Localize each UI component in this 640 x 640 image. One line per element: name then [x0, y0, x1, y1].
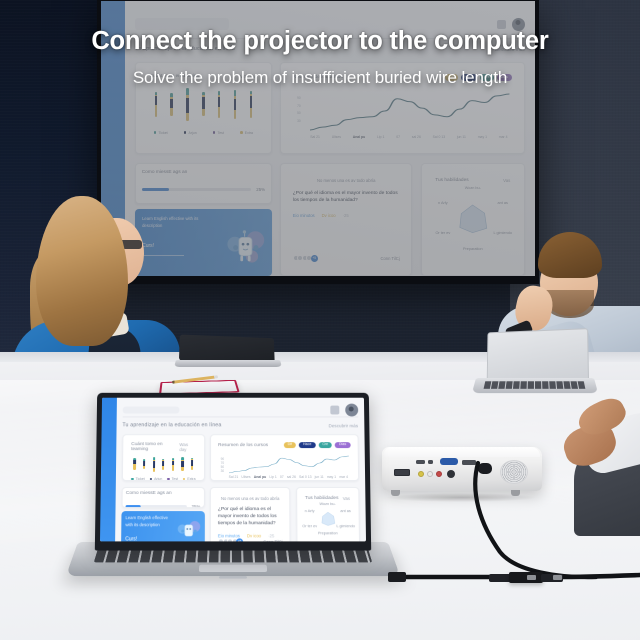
legend-item: Extra [183, 477, 196, 481]
avatar-overflow-count: +5 [311, 255, 318, 262]
progress-percent: 25% [191, 504, 200, 508]
quiz-footer-label: Conn TilCj [380, 256, 399, 261]
legend-item: Test [213, 131, 224, 135]
legend-item: Arjun [184, 131, 197, 135]
line-chart [229, 455, 350, 474]
port-usb-b[interactable] [428, 460, 433, 464]
bar-chart [131, 454, 196, 473]
radar-axis-label: n Arfy [305, 509, 315, 513]
person-foreground [556, 382, 640, 522]
radar-card: Tus habilidades Vas Wozn bu-ant asL gimi… [296, 487, 360, 541]
progress-bar [126, 505, 187, 508]
radar-axis-label: ant as [340, 509, 350, 513]
quiz-question: ¿Por qué el idioma es el mayor invento d… [218, 506, 283, 528]
quiz-top-label: No menos una es av todo abría [218, 496, 283, 501]
subheadline-text: Solve the problem of insufficient buried… [0, 68, 640, 88]
coupler-contact-a [527, 575, 536, 580]
radar-axis-label: Preparation [318, 531, 338, 535]
hdmi-coupler[interactable] [509, 572, 543, 583]
robot-mascot-icon [224, 221, 265, 273]
bars-legend: TicketArjunTestExtra [131, 477, 196, 481]
coupler-contact-b [553, 575, 562, 580]
progress-bar [142, 188, 252, 191]
quiz-meta: Eio minutosDv icoo·25 [293, 213, 400, 218]
y-tick: 30 [221, 469, 225, 473]
x-tick: 07 [396, 135, 400, 139]
quiz-footer-label: Conn TilCj [263, 539, 282, 541]
laptop-trackpad[interactable] [199, 565, 267, 572]
line-x-axis: Sal 21UlisesAnal puLip 107sal 26Sal 0 13… [218, 475, 351, 479]
radar-axis-label: Wozn bu- [319, 502, 335, 506]
x-tick: may 1 [478, 135, 487, 139]
x-tick: 07 [280, 475, 284, 479]
legend-item: Test [167, 477, 178, 481]
radar-axis-label: Wozn bu- [465, 186, 481, 190]
bar-column [189, 454, 194, 473]
x-tick: Anal pu [353, 135, 365, 139]
radar-card-link[interactable]: Vas [503, 178, 510, 183]
robot-mascot-icon [175, 517, 200, 541]
bar-stick [191, 458, 193, 470]
bar-column [215, 84, 223, 125]
port-rca-audio-right[interactable] [436, 471, 442, 477]
tag[interactable]: Cre [318, 442, 332, 448]
port-dvi[interactable] [462, 460, 476, 465]
y-tick: 50 [297, 111, 301, 115]
radar-axis-label: Or ter ev [435, 231, 450, 235]
bars-card-title: Cuánt tomo en teaming [131, 442, 179, 452]
avatar-overflow-count: +5 [236, 538, 243, 541]
radar-axis-label: L gimiendo [336, 524, 355, 528]
radar-axis-label: ant as [498, 201, 508, 205]
tag[interactable]: Dif [284, 442, 296, 448]
line-card: Resumen de los cursos DifHaceCreDias 907… [210, 434, 359, 481]
bell-icon[interactable] [330, 406, 339, 415]
bar-stick [218, 91, 220, 118]
x-tick: sal 26 [287, 475, 296, 479]
port-audio-jack[interactable] [447, 470, 455, 478]
x-tick: Lip 1 [377, 135, 384, 139]
x-tick: may 1 [327, 475, 336, 479]
radar-card-link[interactable]: Vas [343, 496, 350, 501]
progress-bar-fill [142, 188, 169, 191]
tag[interactable]: Hace [299, 442, 315, 448]
quiz-top-label: No menos una es av todo abría [293, 178, 400, 183]
y-tick: 30 [297, 119, 301, 123]
x-tick: jun 11 [315, 475, 324, 479]
legend-item: Extra [240, 131, 253, 135]
participant-avatars: +5 [293, 255, 318, 262]
bar-chart [150, 84, 258, 125]
bar-column [247, 84, 255, 125]
page-title: Tu aprendizaje en la educación en línea [122, 422, 221, 428]
bars-card: Cuánt tomo en teaming Was day TicketArju… [122, 434, 205, 481]
bar-stick [186, 88, 188, 120]
line-y-axis: 90705030 [297, 96, 301, 123]
projector-device [382, 447, 542, 505]
port-usb-a[interactable] [416, 460, 425, 464]
projector-cable-plug[interactable] [478, 463, 492, 474]
y-tick: 70 [297, 104, 301, 108]
bar-stick [143, 459, 145, 469]
port-rca-video[interactable] [418, 471, 424, 477]
bars-legend: TicketArjunTestExtra [150, 131, 258, 135]
laptop-back-left [176, 336, 280, 372]
x-tick: Ulises [241, 475, 250, 479]
x-tick: Sal 0 13 [299, 475, 311, 479]
hdmi-connector-left[interactable] [489, 574, 511, 582]
hdmi-plug-laptop[interactable] [388, 572, 406, 582]
quiz-question: ¿Por qué el idioma es el mayor invento d… [293, 190, 400, 205]
legend-item: Arjun [149, 477, 162, 481]
bar-stick [250, 91, 252, 117]
promo-text: Learn English effective with its descrip… [125, 515, 169, 528]
line-chart [310, 92, 509, 132]
x-tick: mar 4 [339, 475, 348, 479]
quiz-card: No menos una es av todo abría ¿Por qué e… [210, 487, 291, 541]
port-rca-audio-left[interactable] [427, 471, 433, 477]
hair [538, 232, 602, 278]
participant-avatars: +5 [218, 538, 243, 541]
radar-card-title: Tus habilidades [435, 178, 468, 183]
line-card-title: Resumen de los cursos [218, 443, 268, 448]
y-tick: 90 [297, 96, 301, 100]
bar-column [199, 84, 207, 125]
dashboard-laptop: Tu aprendizaje en la educación en línea … [100, 398, 366, 542]
headline-text: Connect the projector to the computer [0, 27, 640, 56]
x-tick: Sal 0 13 [433, 135, 445, 139]
legend-item: Ticket [154, 131, 168, 135]
radar-card-title: Tus habilidades [305, 496, 339, 501]
bar-column [180, 454, 185, 473]
x-tick: Anal pu [254, 475, 266, 479]
tag-group: DifHaceCreDias [284, 442, 351, 448]
bars-card-subtitle: Was day [179, 442, 195, 452]
search-input[interactable] [123, 407, 180, 413]
laptop-lid: Tu aprendizaje en la educación en línea … [95, 393, 371, 551]
bar-stick [181, 457, 183, 471]
x-tick: jun 11 [457, 135, 466, 139]
port-vga[interactable] [440, 458, 458, 465]
radar-axis-label: n Arfy [438, 201, 448, 205]
x-tick: mar 4 [499, 135, 508, 139]
bar-column [170, 454, 175, 473]
bar-column [231, 84, 239, 125]
quiz-meta-item: Dv icoo [322, 213, 336, 218]
x-tick: Sal 21 [229, 475, 239, 479]
bar-stick [202, 92, 204, 116]
bar-stick [234, 90, 236, 119]
x-tick: Ulises [332, 135, 341, 139]
progress-bar-fill [126, 505, 141, 508]
x-tick: Sal 21 [310, 135, 320, 139]
quiz-meta-item: ·25 [343, 213, 349, 218]
progress-card-title: Como miessE ags an [126, 491, 200, 496]
bar-column [142, 454, 147, 473]
bar-stick [162, 459, 164, 470]
progress-card: Como miessE ags an 25% [121, 487, 204, 508]
laptop-screen: Tu aprendizaje en la educación en línea … [100, 398, 366, 542]
x-tick: sal 26 [412, 135, 421, 139]
view-all-link[interactable]: Descubrir más [329, 423, 359, 428]
quiz-card: No menos una es av todo abría ¿Por qué e… [280, 163, 412, 276]
radar-axis-label: Preparation [463, 247, 483, 251]
bar-column [151, 454, 156, 473]
scene: Tu aprendizaje en la educación en línea … [0, 0, 640, 640]
quiz-meta-item: Eio minutos [293, 213, 315, 218]
bar-stick [133, 458, 136, 470]
bar-column [161, 454, 166, 473]
legend-item: Ticket [131, 477, 145, 481]
line-x-axis: Sal 21UlisesAnal puLip 107sal 26Sal 0 13… [293, 135, 512, 139]
bar-stick [155, 92, 157, 118]
progress-percent: 25% [256, 187, 265, 192]
projector-speaker [500, 460, 528, 484]
port-hdmi[interactable] [394, 469, 410, 476]
radar-chart: Wozn bu-ant asL gimiendoPreparationOr te… [305, 503, 350, 535]
avatar[interactable] [345, 404, 358, 417]
laptop-foreground: Tu aprendizaje en la educación en línea … [78, 392, 388, 597]
bar-stick [153, 457, 156, 472]
bar-column [183, 84, 191, 125]
bar-column [152, 84, 160, 125]
bar-stick [172, 458, 174, 471]
line-y-axis: 90705030 [221, 457, 225, 470]
beard [546, 290, 594, 318]
bar-stick [170, 93, 172, 115]
bar-column [168, 84, 176, 125]
radar-axis-label: Or ter ev [302, 524, 317, 528]
bar-column [132, 454, 137, 473]
promo-card[interactable]: Learn English effective with its descrip… [121, 511, 205, 541]
tag[interactable]: Dias [335, 442, 350, 448]
progress-card-title: Como miessE ags an [142, 170, 265, 175]
x-tick: Lip 1 [269, 475, 276, 479]
